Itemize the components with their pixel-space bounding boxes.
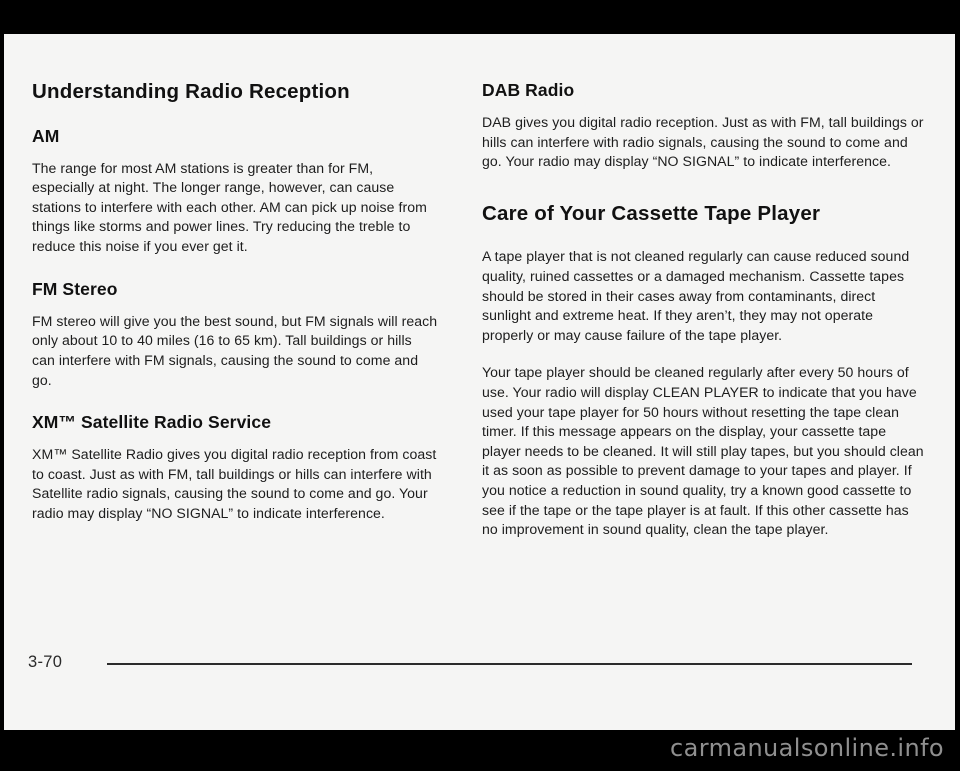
scan-margin-right bbox=[955, 34, 960, 730]
paragraph-cassette-care-cleaning: Your tape player should be cleaned regul… bbox=[482, 363, 925, 539]
right-column: DAB Radio DAB gives you digital radio re… bbox=[456, 34, 955, 634]
section-heading-dab-radio: DAB Radio bbox=[482, 80, 925, 100]
page-title-understanding-radio-reception: Understanding Radio Reception bbox=[32, 80, 438, 104]
section-heading-xm-satellite-radio-service: XM™ Satellite Radio Service bbox=[32, 412, 438, 432]
paragraph-dab-radio: DAB gives you digital radio reception. J… bbox=[482, 113, 925, 172]
watermark-carmanualsonline: carmanualsonline.info bbox=[0, 734, 960, 762]
page-footer: 3-70 bbox=[4, 649, 955, 699]
footer-divider-rule bbox=[107, 663, 912, 665]
paragraph-am: The range for most AM stations is greate… bbox=[32, 159, 438, 257]
paragraph-xm-satellite-radio-service: XM™ Satellite Radio gives you digital ra… bbox=[32, 445, 438, 523]
scanned-page-viewport: Understanding Radio Reception AM The ran… bbox=[0, 0, 960, 771]
page-number: 3-70 bbox=[28, 653, 62, 672]
page-title-care-of-your-cassette-tape-player: Care of Your Cassette Tape Player bbox=[482, 202, 925, 226]
scan-margin-top bbox=[0, 0, 960, 34]
manual-page: Understanding Radio Reception AM The ran… bbox=[4, 34, 955, 730]
page-columns: Understanding Radio Reception AM The ran… bbox=[4, 34, 955, 634]
section-heading-fm-stereo: FM Stereo bbox=[32, 279, 438, 299]
paragraph-fm-stereo: FM stereo will give you the best sound, … bbox=[32, 312, 438, 390]
left-column: Understanding Radio Reception AM The ran… bbox=[4, 34, 456, 634]
section-heading-am: AM bbox=[32, 126, 438, 146]
paragraph-cassette-care-storage: A tape player that is not cleaned regula… bbox=[482, 247, 925, 345]
